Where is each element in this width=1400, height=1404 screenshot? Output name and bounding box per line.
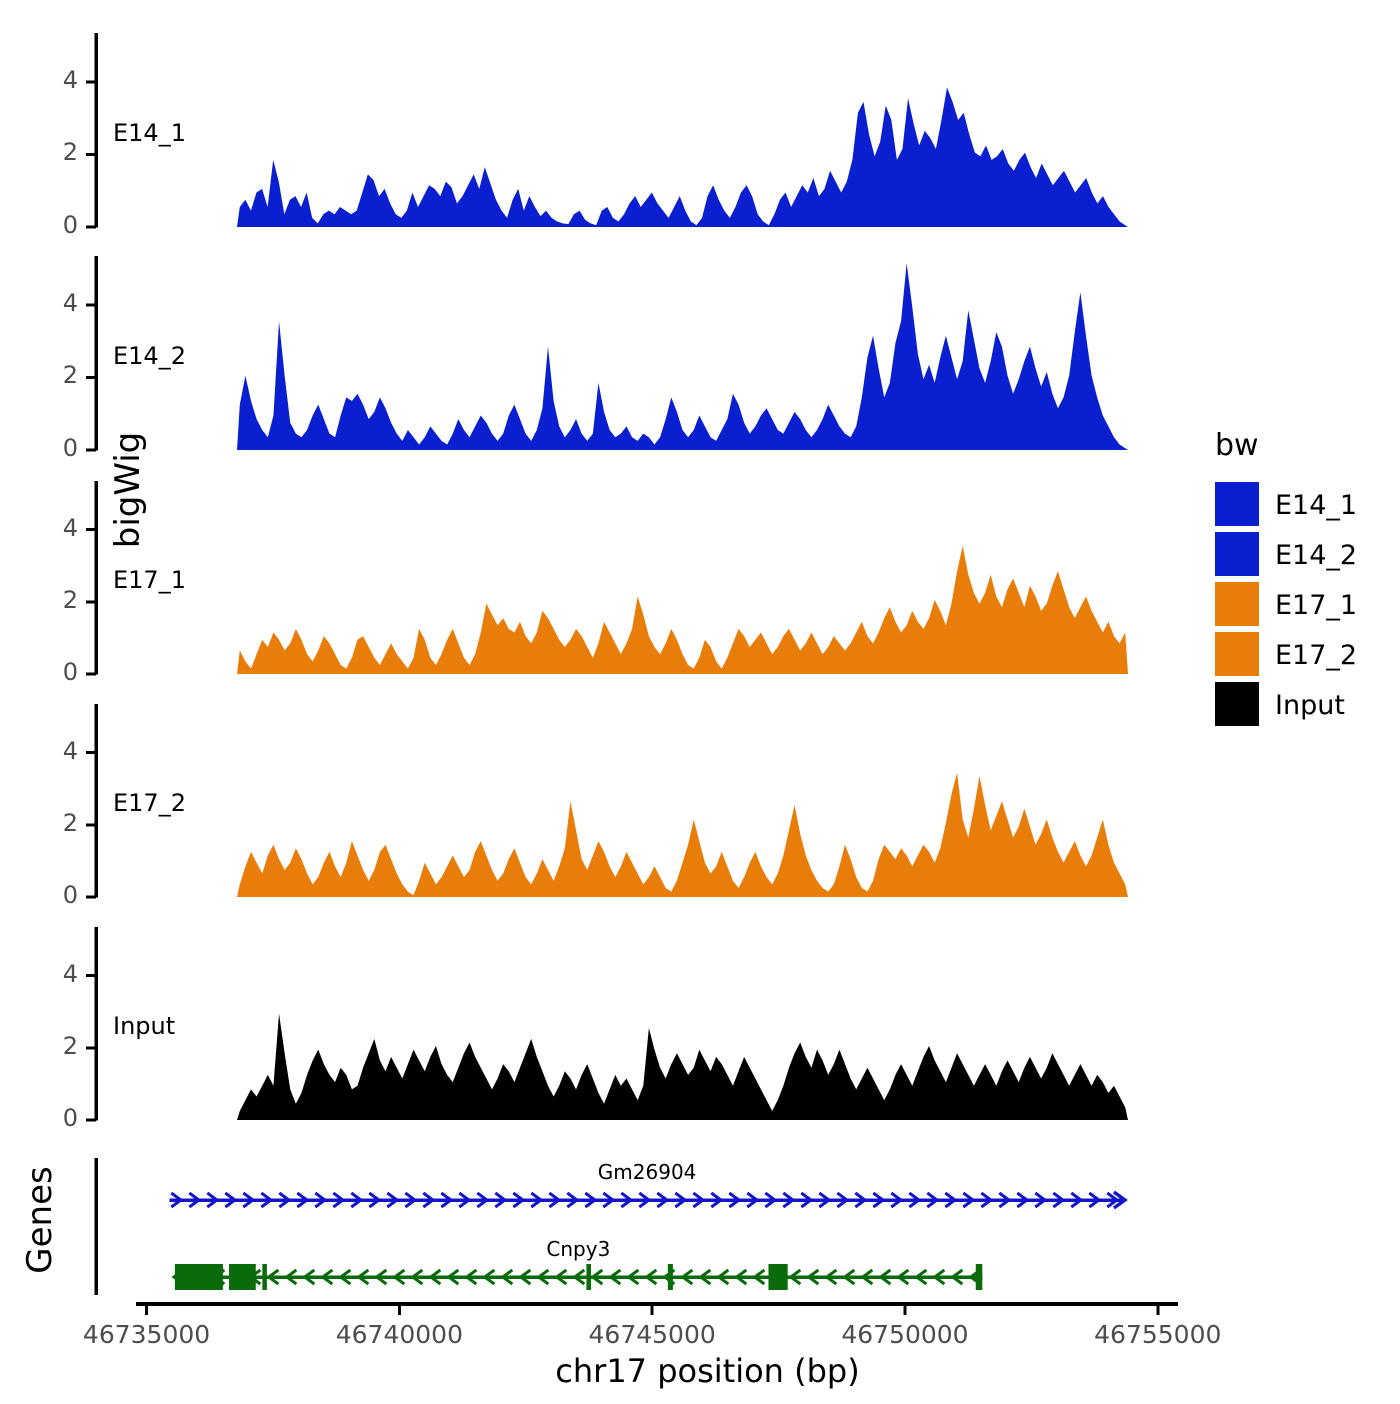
bigwig-area-E17_1 <box>237 546 1128 674</box>
track-label-E17_2: E17_2 <box>113 789 186 817</box>
bigwig-area-E17_2 <box>237 773 1128 897</box>
legend-swatch-E14_1 <box>1215 482 1259 526</box>
x-tick-label-46735000: 46735000 <box>37 1320 257 1349</box>
y-tick-label-E17_1-4: 4 <box>0 514 78 542</box>
y-tick-label-E17_2-0: 0 <box>0 881 78 909</box>
bigwig-area-Input <box>237 1014 1128 1120</box>
y-tick-label-E17_2-2: 2 <box>0 809 78 837</box>
legend-item-E17_2[interactable]: E17_2 <box>1215 632 1390 680</box>
legend-label-E14_1: E14_1 <box>1275 490 1357 521</box>
gene-exon-Cnpy3 <box>262 1264 267 1290</box>
legend-label-E17_1: E17_1 <box>1275 590 1357 621</box>
x-tick-label-46750000: 46750000 <box>795 1320 1015 1349</box>
legend-item-Input[interactable]: Input <box>1215 682 1390 730</box>
y-tick-label-Input-4: 4 <box>0 960 78 988</box>
y-tick-label-E14_1-4: 4 <box>0 66 78 94</box>
bigwig-area-E14_2 <box>237 263 1128 450</box>
y-tick-label-E14_2-0: 0 <box>0 434 78 462</box>
gene-exon-Cnpy3 <box>668 1264 673 1290</box>
figure-canvas <box>0 0 1400 1400</box>
legend-swatch-E14_2 <box>1215 532 1259 576</box>
x-axis-label: chr17 position (bp) <box>237 1352 1178 1390</box>
legend-title: bw <box>1215 428 1259 463</box>
genome-browser-figure <box>0 0 1400 1400</box>
x-tick-label-46755000: 46755000 <box>1048 1320 1268 1349</box>
y-tick-label-E17_1-0: 0 <box>0 658 78 686</box>
y-tick-label-E14_1-0: 0 <box>0 211 78 239</box>
gene-label-Cnpy3: Cnpy3 <box>458 1237 698 1261</box>
y-tick-label-E17_2-4: 4 <box>0 737 78 765</box>
track-label-Input: Input <box>113 1012 175 1040</box>
legend-item-E14_2[interactable]: E14_2 <box>1215 532 1390 580</box>
y-tick-label-E14_1-2: 2 <box>0 138 78 166</box>
gene-exon-Cnpy3 <box>976 1264 983 1290</box>
y-axis-label-genes: Genes <box>20 1140 60 1300</box>
y-tick-label-E17_1-2: 2 <box>0 586 78 614</box>
legend-swatch-Input <box>1215 682 1259 726</box>
legend-label-E14_2: E14_2 <box>1275 540 1357 571</box>
gene-exon-Cnpy3 <box>229 1264 256 1290</box>
x-tick-label-46740000: 46740000 <box>289 1320 509 1349</box>
y-tick-label-E14_2-2: 2 <box>0 361 78 389</box>
track-label-E17_1: E17_1 <box>113 566 186 594</box>
track-label-E14_2: E14_2 <box>113 342 186 370</box>
bigwig-area-E14_1 <box>237 87 1128 227</box>
gene-exon-Cnpy3 <box>586 1264 591 1290</box>
legend-swatch-E17_2 <box>1215 632 1259 676</box>
gene-exon-Cnpy3 <box>175 1264 223 1290</box>
x-tick-label-46745000: 46745000 <box>542 1320 762 1349</box>
legend-swatch-E17_1 <box>1215 582 1259 626</box>
gene-label-Gm26904: Gm26904 <box>527 1160 767 1184</box>
y-tick-label-Input-0: 0 <box>0 1104 78 1132</box>
y-tick-label-E14_2-4: 4 <box>0 289 78 317</box>
legend-label-E17_2: E17_2 <box>1275 640 1357 671</box>
track-label-E14_1: E14_1 <box>113 119 186 147</box>
legend-item-E14_1[interactable]: E14_1 <box>1215 482 1390 530</box>
legend-item-E17_1[interactable]: E17_1 <box>1215 582 1390 630</box>
gene-exon-Cnpy3 <box>768 1264 787 1290</box>
legend-label-Input: Input <box>1275 690 1345 721</box>
y-tick-label-Input-2: 2 <box>0 1032 78 1060</box>
